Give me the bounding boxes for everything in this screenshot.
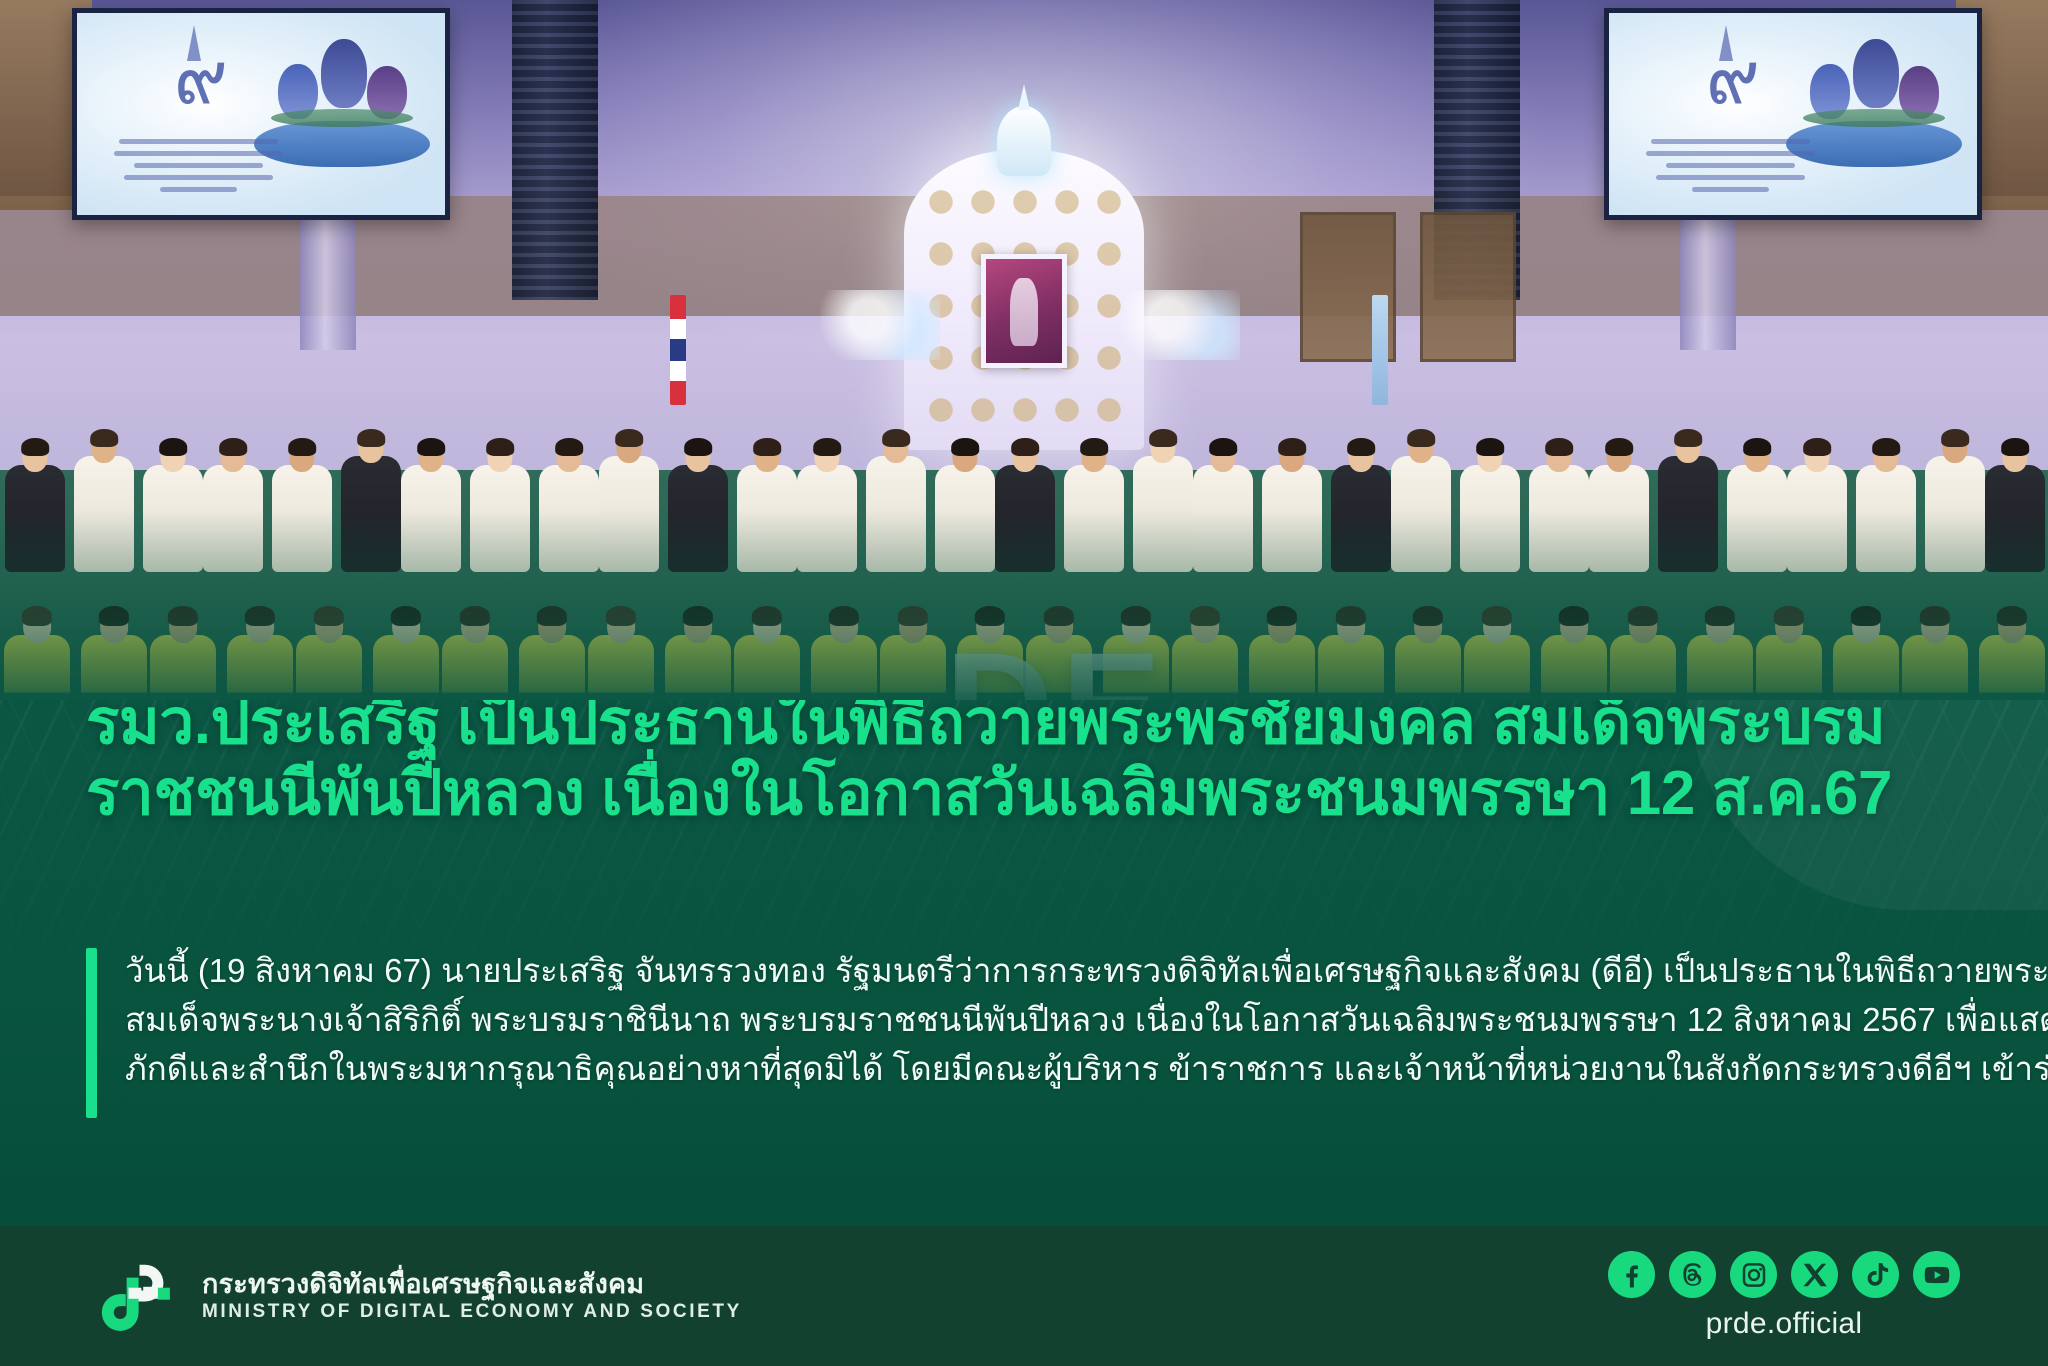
thai-flag xyxy=(670,295,686,405)
announcement-card: ๙ ๙ xyxy=(0,0,2048,1366)
body-line-3: ภักดีและสำนึกในพระมหากรุณาธิคุณอย่างหาที… xyxy=(125,1046,2048,1093)
youtube-icon[interactable] xyxy=(1913,1251,1960,1298)
ministry-name-th: กระทรวงดิจิทัลเพื่อเศรษฐกิจและสังคม xyxy=(202,1271,742,1298)
crown-icon xyxy=(997,106,1051,176)
royal-flag xyxy=(1372,295,1388,405)
headline-line-1: รมว.ประเสริฐ เป็นประธานในพิธีถวายพระพรชั… xyxy=(86,700,1986,759)
social-icon-row xyxy=(1608,1251,1960,1298)
royal-portrait xyxy=(981,254,1067,368)
accent-bar xyxy=(86,948,97,1118)
instagram-icon[interactable] xyxy=(1730,1251,1777,1298)
flower-arrangement-left xyxy=(820,290,940,360)
body-paragraph: วันนี้ (19 สิงหาคม 67) นายประเสริฐ จันทร… xyxy=(125,948,2048,1118)
speaker-column-left xyxy=(512,0,598,300)
flower-arrangement-right xyxy=(1120,290,1240,360)
content-panel: รมว.ประเสริฐ เป็นประธานในพิธีถวายพระพรชั… xyxy=(0,700,2048,1226)
tiktok-icon[interactable] xyxy=(1852,1251,1899,1298)
body-line-1: วันนี้ (19 สิงหาคม 67) นายประเสริฐ จันทร… xyxy=(125,948,2048,995)
ministry-name-en: MINISTRY OF DIGITAL ECONOMY AND SOCIETY xyxy=(202,1302,742,1321)
projection-screen-right: ๙ xyxy=(1604,8,1982,220)
social-block: prde.official xyxy=(1608,1251,1960,1341)
body-block: วันนี้ (19 สิงหาคม 67) นายประเสริฐ จันทร… xyxy=(86,948,1976,1118)
facebook-icon[interactable] xyxy=(1608,1251,1655,1298)
x-icon[interactable] xyxy=(1791,1251,1838,1298)
footer-bar: กระทรวงดิจิทัลเพื่อเศรษฐกิจและสังคม MINI… xyxy=(0,1226,2048,1366)
hall-door-right xyxy=(1420,212,1516,362)
slide-caption-lines xyxy=(114,132,283,199)
slide-caption-lines xyxy=(1646,132,1815,199)
de-ministry-logo xyxy=(88,1250,180,1342)
social-handle: prde.official xyxy=(1706,1307,1863,1341)
headline-line-2: ราชชนนีพันปีหลวง เนื่องในโอกาสวันเฉลิมพร… xyxy=(86,759,1986,830)
projection-screen-left: ๙ xyxy=(72,8,450,220)
page-title: รมว.ประเสริฐ เป็นประธานในพิธีถวายพระพรชั… xyxy=(86,700,1986,829)
ministry-name: กระทรวงดิจิทัลเพื่อเศรษฐกิจและสังคม MINI… xyxy=(202,1271,742,1321)
event-photo: ๙ ๙ xyxy=(0,0,2048,760)
body-line-2: สมเด็จพระนางเจ้าสิริกิติ์ พระบรมราชินีนา… xyxy=(125,997,2048,1044)
threads-icon[interactable] xyxy=(1669,1251,1716,1298)
ministry-branding: กระทรวงดิจิทัลเพื่อเศรษฐกิจและสังคม MINI… xyxy=(88,1250,742,1342)
